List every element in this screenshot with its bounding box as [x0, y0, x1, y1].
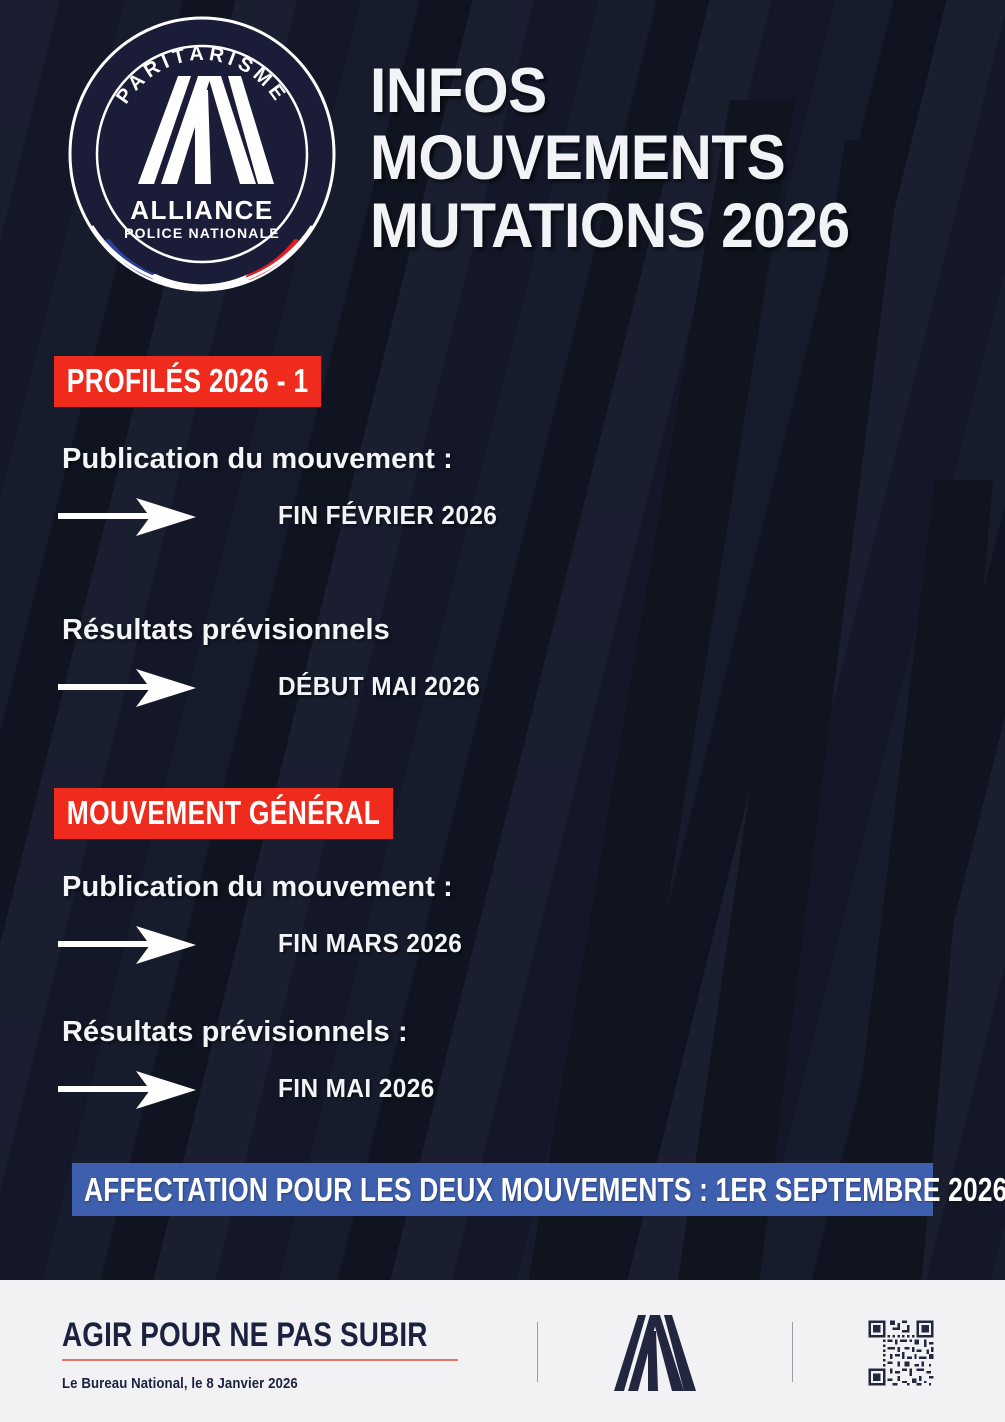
- logo-subtitle: POLICE NATIONALE: [124, 225, 280, 241]
- poster-footer: AGIR POUR NE PAS SUBIR Le Bureau Nationa…: [0, 1280, 1005, 1422]
- row-publication-general: FIN MARS 2026: [0, 914, 1005, 976]
- affectation-banner: AFFECTATION POUR LES DEUX MOUVEMENTS : 1…: [72, 1163, 933, 1216]
- poster-header: PARITARISME ALLIANCE POLICE NATIONALE: [0, 0, 1005, 300]
- section-tag-mouvement-general: MOUVEMENT GÉNÉRAL: [54, 788, 393, 839]
- row-value-publication-general: FIN MARS 2026: [278, 928, 462, 959]
- row-publication: FIN FÉVRIER 2026: [0, 486, 1005, 548]
- arrow-right-icon: [58, 492, 198, 542]
- row-value-publication: FIN FÉVRIER 2026: [278, 500, 497, 531]
- logo-name: ALLIANCE: [130, 195, 273, 225]
- row-value-resultats: DÉBUT MAI 2026: [278, 671, 480, 702]
- arrow-right-icon: [58, 1065, 198, 1115]
- footer-byline: Le Bureau National, le 8 Janvier 2026: [62, 1375, 298, 1392]
- footer-slogan: AGIR POUR NE PAS SUBIR: [62, 1318, 428, 1352]
- section-profiles-2026-1: PROFILÉS 2026 - 1 Publication du mouveme…: [0, 356, 1005, 719]
- title-line-2: MOUVEMENTS: [370, 125, 850, 192]
- footer-divider-right: [792, 1322, 793, 1382]
- row-label-publication: Publication du mouvement :: [62, 443, 1005, 476]
- section-mouvement-general: MOUVEMENT GÉNÉRAL Publication du mouveme…: [0, 788, 1005, 1121]
- affectation-banner-text: AFFECTATION POUR LES DEUX MOUVEMENTS : 1…: [84, 1173, 1005, 1206]
- footer-divider-left: [537, 1322, 538, 1382]
- row-label-resultats: Résultats prévisionnels: [62, 614, 1005, 647]
- arrow-right-icon: [58, 920, 198, 970]
- row-label-publication-general: Publication du mouvement :: [62, 871, 1005, 904]
- row-resultats: DÉBUT MAI 2026: [0, 657, 1005, 719]
- row-resultats-general: FIN MAI 2026: [0, 1059, 1005, 1121]
- alliance-a-mark-icon: [612, 1311, 698, 1393]
- qr-code-icon[interactable]: [866, 1318, 936, 1388]
- title-line-1: INFOS: [370, 58, 850, 125]
- row-label-resultats-general: Résultats prévisionnels :: [62, 1016, 1005, 1049]
- alliance-police-nationale-logo: PARITARISME ALLIANCE POLICE NATIONALE: [62, 14, 342, 292]
- footer-slogan-underline: [62, 1359, 458, 1361]
- page-title: INFOS MOUVEMENTS MUTATIONS 2026: [370, 58, 850, 260]
- arrow-right-icon: [58, 663, 198, 713]
- title-line-3: MUTATIONS 2026: [370, 193, 850, 260]
- poster: PARITARISME ALLIANCE POLICE NATIONALE: [0, 0, 1005, 1422]
- section-tag-profiles: PROFILÉS 2026 - 1: [54, 356, 321, 407]
- row-value-resultats-general: FIN MAI 2026: [278, 1073, 435, 1104]
